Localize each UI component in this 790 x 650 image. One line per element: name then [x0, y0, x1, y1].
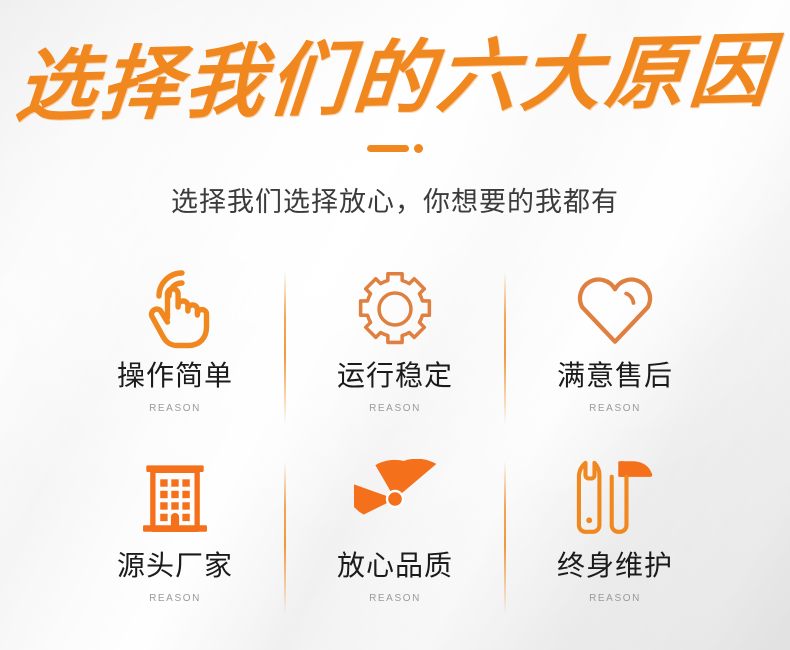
reason-sublabel: REASON [589, 593, 641, 604]
promo-banner: 选择我们的六大原因 选择我们选择放心，你想要的我都有 [0, 0, 790, 650]
gear-icon [350, 265, 440, 353]
reason-card-2[interactable]: 运行稳定 REASON [285, 261, 505, 451]
page-title: 选择我们的六大原因 [0, 30, 790, 131]
reason-sublabel: REASON [369, 593, 421, 604]
divider-dot [414, 144, 423, 153]
reason-sublabel: REASON [589, 403, 641, 414]
page-subtitle: 选择我们选择放心，你想要的我都有 [0, 180, 790, 219]
reason-label: 满意售后 [557, 361, 673, 392]
reason-card-5[interactable]: 放心品质 REASON [285, 451, 505, 641]
heart-icon [570, 265, 660, 353]
reason-sublabel: REASON [149, 593, 201, 604]
reasons-grid: 操作简单 REASON 运行稳定 REASON [65, 261, 725, 641]
reason-label: 源头厂家 [117, 551, 233, 582]
reason-label: 终身维护 [557, 551, 673, 582]
reason-card-6[interactable]: 终身维护 REASON [505, 451, 725, 641]
reason-label: 运行稳定 [337, 361, 453, 392]
reason-sublabel: REASON [369, 403, 421, 414]
reason-label: 操作简单 [117, 361, 233, 392]
reason-label: 放心品质 [337, 551, 453, 582]
reason-sublabel: REASON [149, 403, 201, 414]
reason-card-1[interactable]: 操作简单 REASON [65, 261, 285, 451]
radiation-icon [350, 455, 440, 543]
tap-hand-icon [130, 265, 220, 353]
building-icon [130, 455, 220, 543]
reason-card-4[interactable]: 源头厂家 REASON [65, 451, 285, 641]
reason-card-3[interactable]: 满意售后 REASON [505, 261, 725, 451]
title-divider [0, 142, 790, 154]
divider-bar [367, 145, 409, 152]
tools-icon [570, 455, 660, 543]
